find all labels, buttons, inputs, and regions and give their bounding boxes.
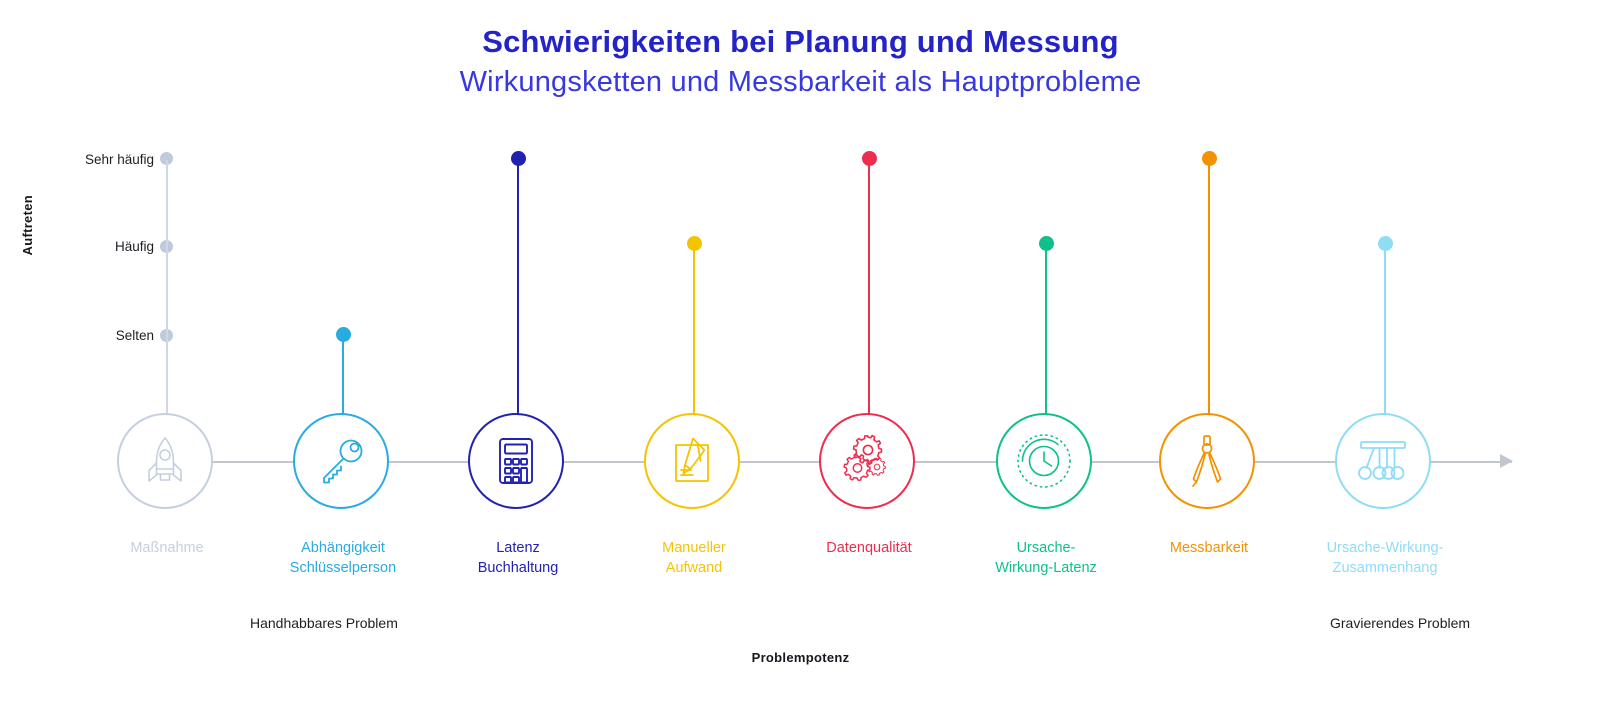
stem-dot [1039, 236, 1054, 251]
stem-line [1045, 248, 1047, 415]
data-point-label: Abhängigkeit Schlüsselperson [243, 538, 443, 578]
label-line-2: Buchhaltung [418, 558, 618, 578]
x-axis-range-left-label: Handhabbares Problem [250, 615, 398, 631]
x-axis-arrow-icon [1500, 454, 1513, 468]
label-line-1: Datenqualität [769, 538, 969, 558]
gears-icon [838, 432, 896, 490]
stem-dot [1202, 151, 1217, 166]
data-point-label: Latenz Buchhaltung [418, 538, 618, 578]
label-line-2: Zusammenhang [1285, 558, 1485, 578]
stem-dot [1378, 236, 1393, 251]
stem-dot [687, 236, 702, 251]
stem-line [166, 160, 168, 415]
data-point-label: Maßnahme [67, 538, 267, 558]
label-line-1: Messbarkeit [1109, 538, 1309, 558]
chart-header: Schwierigkeiten bei Planung und Messung … [0, 22, 1601, 102]
data-point-label: Ursache-Wirkung- Zusammenhang [1285, 538, 1485, 578]
label-line-2: Aufwand [594, 558, 794, 578]
newtons-cradle-icon [1352, 430, 1414, 492]
chart-canvas: Schwierigkeiten bei Planung und Messung … [0, 0, 1601, 711]
y-axis-title: Auftreten [20, 195, 35, 255]
label-line-1: Abhängigkeit [243, 538, 443, 558]
icon-circle[interactable] [1159, 413, 1255, 509]
icon-circle[interactable] [819, 413, 915, 509]
icon-circle[interactable] [1335, 413, 1431, 509]
stem-dot [511, 151, 526, 166]
rocket-icon [136, 432, 194, 490]
key-icon [312, 432, 370, 490]
icon-circle[interactable] [644, 413, 740, 509]
label-line-2: Schlüsselperson [243, 558, 443, 578]
compass-icon [1178, 432, 1236, 490]
data-point-label: Datenqualität [769, 538, 969, 558]
icon-circle[interactable] [468, 413, 564, 509]
stem-line [868, 160, 870, 415]
icon-circle[interactable] [117, 413, 213, 509]
page-title: Schwierigkeiten bei Planung und Messung [0, 22, 1601, 62]
label-line-2: Wirkung-Latenz [946, 558, 1146, 578]
clock-icon [1013, 430, 1075, 492]
y-tick-label-2: Selten [34, 328, 154, 343]
label-line-1: Ursache-Wirkung- [1285, 538, 1485, 558]
x-axis-title: Problempotenz [0, 650, 1601, 665]
stem-dot [336, 327, 351, 342]
stem-line [693, 248, 695, 415]
label-line-1: Maßnahme [67, 538, 267, 558]
stem-line [342, 341, 344, 415]
y-tick-label-1: Häufig [34, 239, 154, 254]
stem-line [1384, 248, 1386, 415]
stem-dot [862, 151, 877, 166]
stem-line [517, 160, 519, 415]
document-pencil-icon [663, 432, 721, 490]
page-subtitle: Wirkungsketten und Messbarkeit als Haupt… [0, 62, 1601, 102]
data-point-label: Manueller Aufwand [594, 538, 794, 578]
icon-circle[interactable] [996, 413, 1092, 509]
x-axis-range-right-label: Gravierendes Problem [1330, 615, 1470, 631]
stem-line [1208, 160, 1210, 415]
label-line-1: Manueller [594, 538, 794, 558]
icon-circle[interactable] [293, 413, 389, 509]
calculator-icon [487, 432, 545, 490]
y-tick-label-0: Sehr häufig [34, 152, 154, 167]
label-line-1: Latenz [418, 538, 618, 558]
data-point-label: Messbarkeit [1109, 538, 1309, 558]
